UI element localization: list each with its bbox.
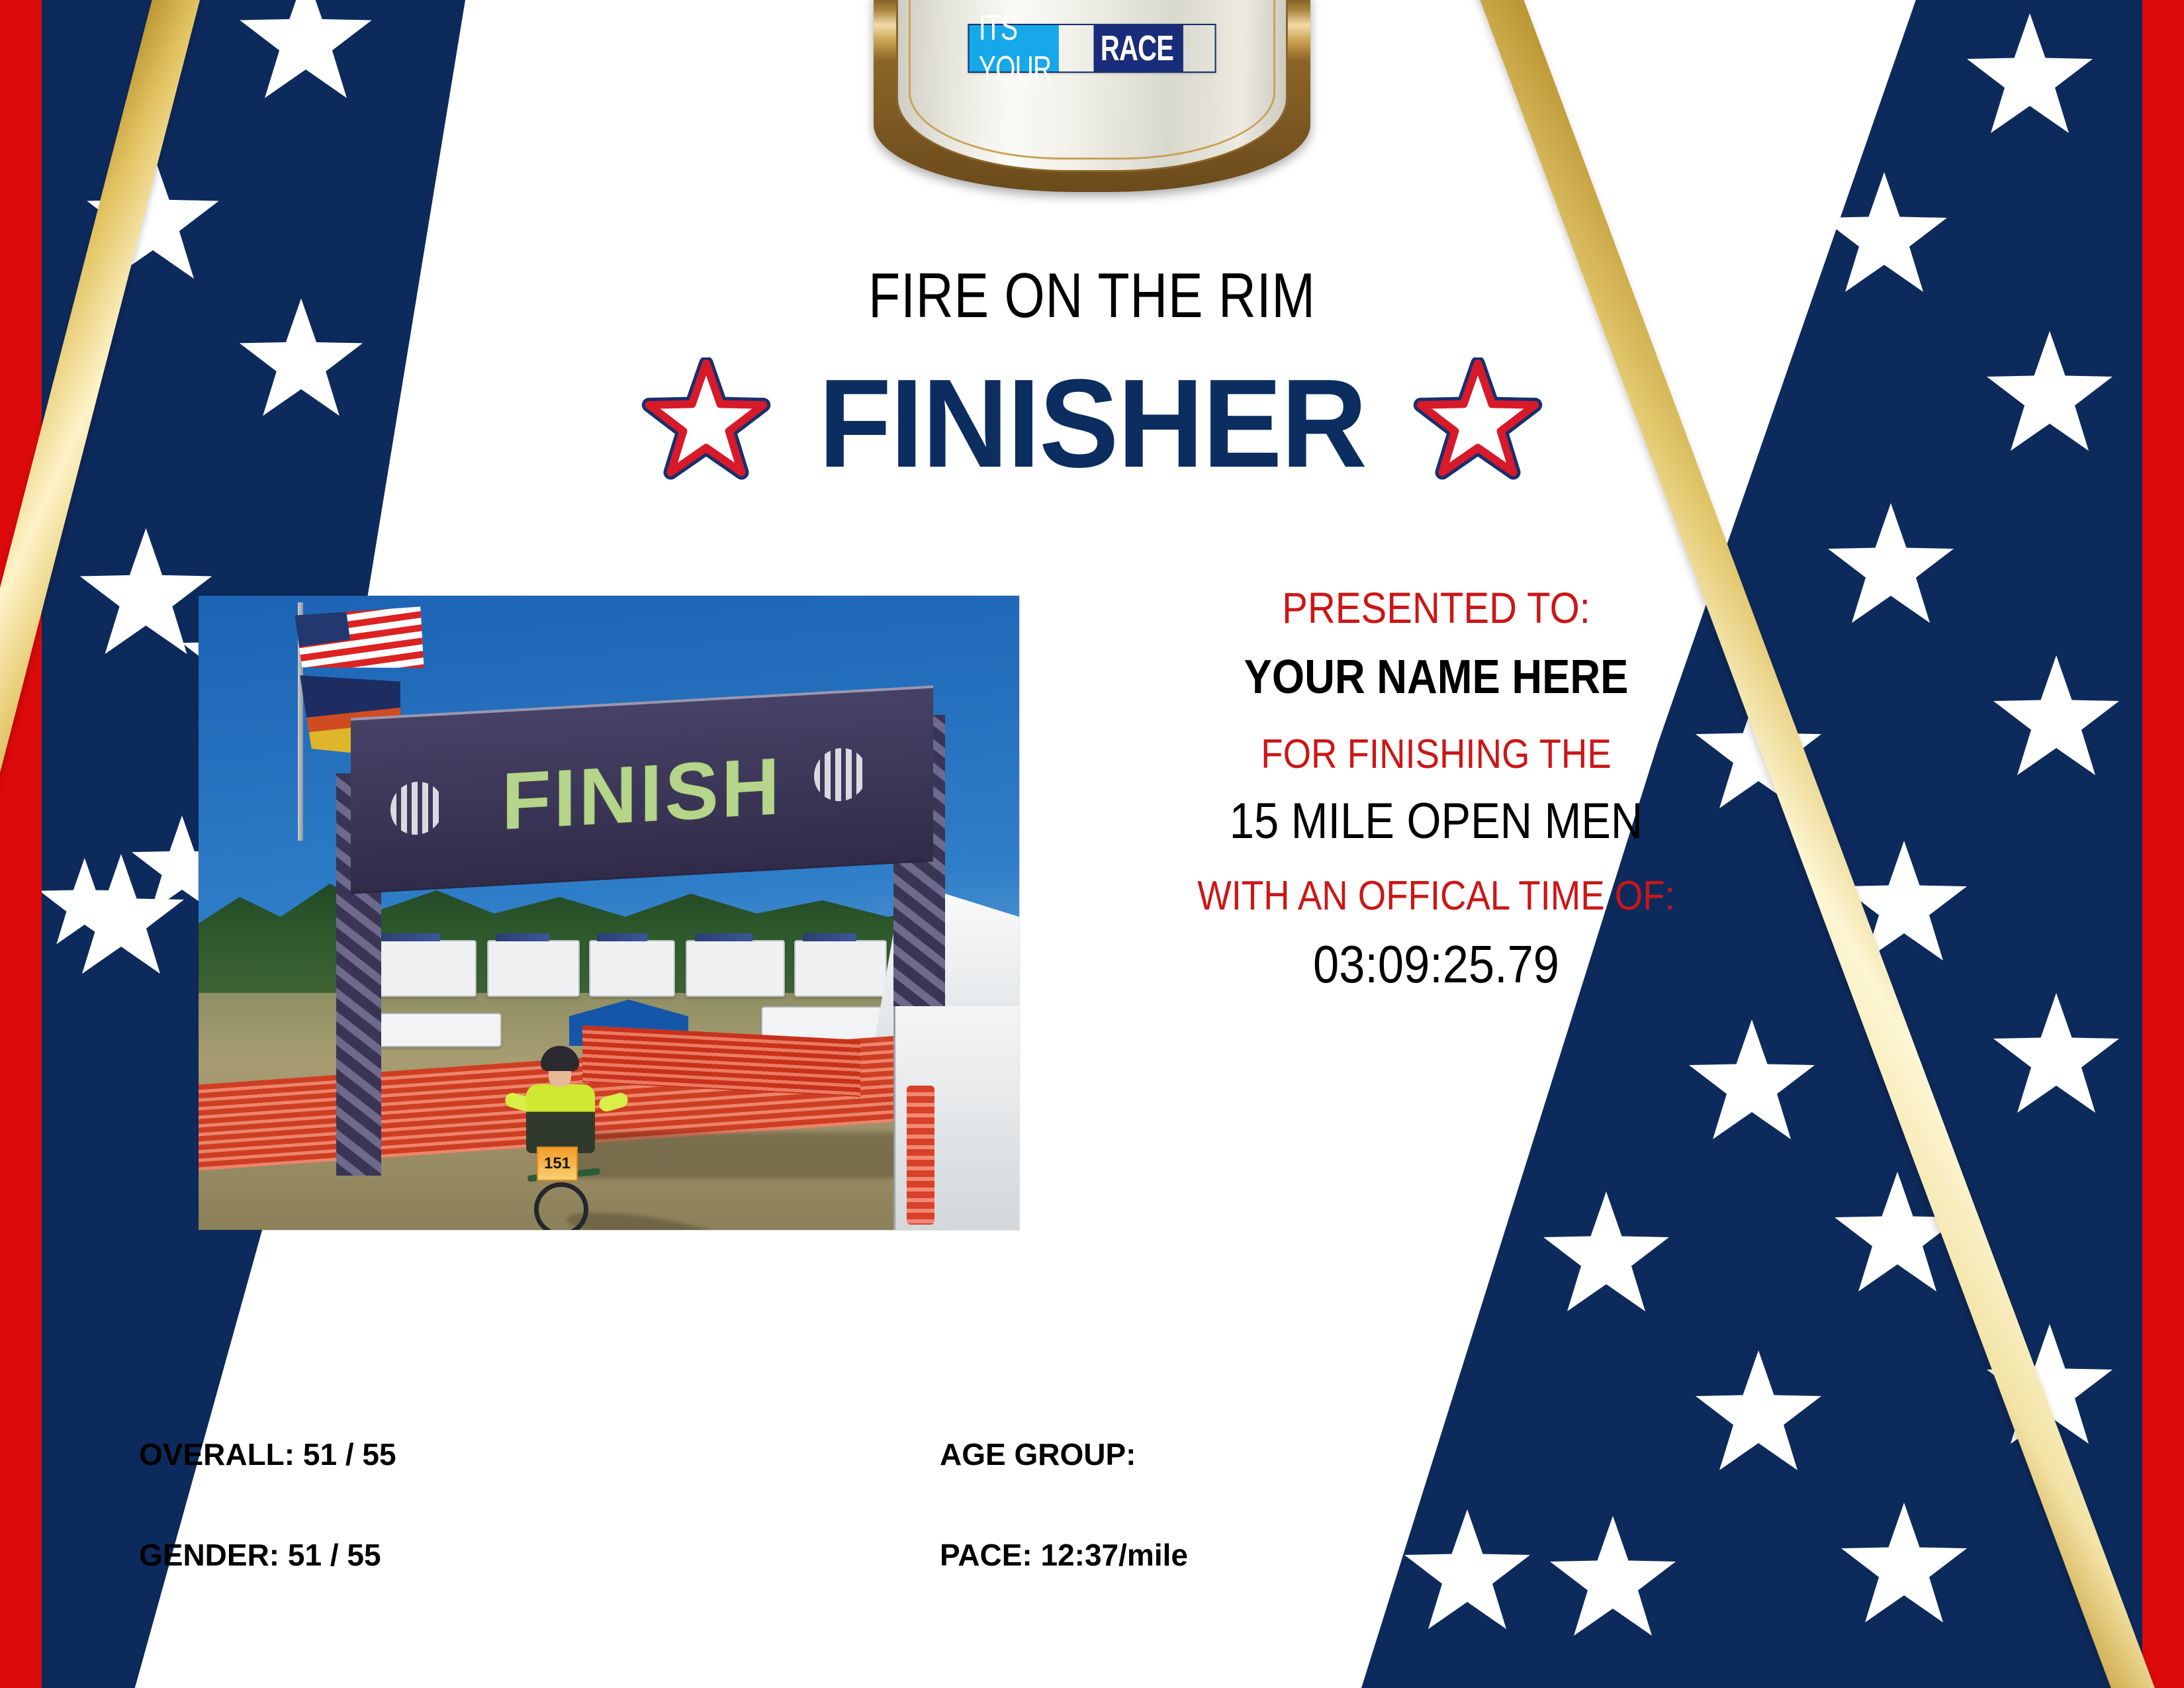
logo-wrap: ITS YOUR RACE: [968, 24, 1216, 73]
stat-overall: OVERALL: 51 / 55: [139, 1436, 940, 1472]
photo-finish-text: FINISH: [502, 739, 782, 848]
logo-its-your-text: ITS YOUR: [969, 25, 1058, 71]
photo-race-bib: 151: [537, 1147, 578, 1181]
stat-pace: PACE: 12:37/mile: [940, 1537, 1188, 1573]
photo-cyclist-arm-right: [598, 1091, 629, 1113]
photo-cyclist-torso: [526, 1084, 595, 1153]
finisher-certificate: ITS YOUR RACE FIRE ON THE RIM FINISHER: [0, 0, 2184, 1688]
presented-to-label: PRESENTED TO:: [1104, 583, 1768, 633]
photo-bike-wheel: [534, 1182, 588, 1230]
stats-row-1: OVERALL: 51 / 55 AGE GROUP:: [139, 1436, 1396, 1472]
star-left-icon: [640, 357, 772, 490]
red-stripe-right-icon: [2142, 0, 2184, 1688]
for-finishing-label: FOR FINISHING THE: [1104, 731, 1768, 778]
its-your-race-logo-badge: ITS YOUR RACE: [874, 0, 1310, 192]
event-category: 15 MILE OPEN MEN: [1104, 792, 1768, 850]
photo-cyclist: 151: [500, 1046, 632, 1230]
red-stripe-left-icon: [0, 0, 42, 1688]
stat-gender: GENDER: 51 / 55: [139, 1537, 940, 1573]
stats-row-2: GENDER: 51 / 55 PACE: 12:37/mile: [139, 1537, 1396, 1573]
stat-age-group: AGE GROUP:: [940, 1436, 1136, 1472]
official-time-label: WITH AN OFFICAL TIME OF:: [1104, 872, 1768, 919]
finisher-headline-row: FINISHER: [0, 357, 2184, 490]
mangled-momentum-logo-icon: [390, 780, 443, 836]
finisher-word: FINISHER: [818, 361, 1365, 487]
official-time-value: 03:09:25.79: [1104, 934, 1768, 995]
gold-swoosh-left-icon: [0, 0, 204, 1267]
photo-truck-a: [376, 1013, 502, 1047]
race-title: FIRE ON THE RIM: [197, 259, 1987, 332]
recipient-name: YOUR NAME HERE: [1104, 650, 1768, 704]
photo-red-post: [907, 1086, 934, 1225]
finish-line-photo: FINISH 151: [199, 596, 1019, 1230]
photo-cyclist-helmet: [541, 1046, 579, 1071]
award-text-block: PRESENTED TO: YOUR NAME HERE FOR FINISHI…: [1059, 583, 1813, 995]
logo-wordmark: ITS YOUR RACE: [968, 24, 1216, 73]
mangled-momentum-logo-icon-2: [814, 747, 867, 802]
photo-finish-banner: FINISH: [351, 685, 933, 894]
logo-race-text: RACE: [1094, 25, 1183, 71]
star-right-icon: [1412, 357, 1544, 490]
results-stats: OVERALL: 51 / 55 AGE GROUP: GENDER: 51 /…: [139, 1436, 1396, 1638]
